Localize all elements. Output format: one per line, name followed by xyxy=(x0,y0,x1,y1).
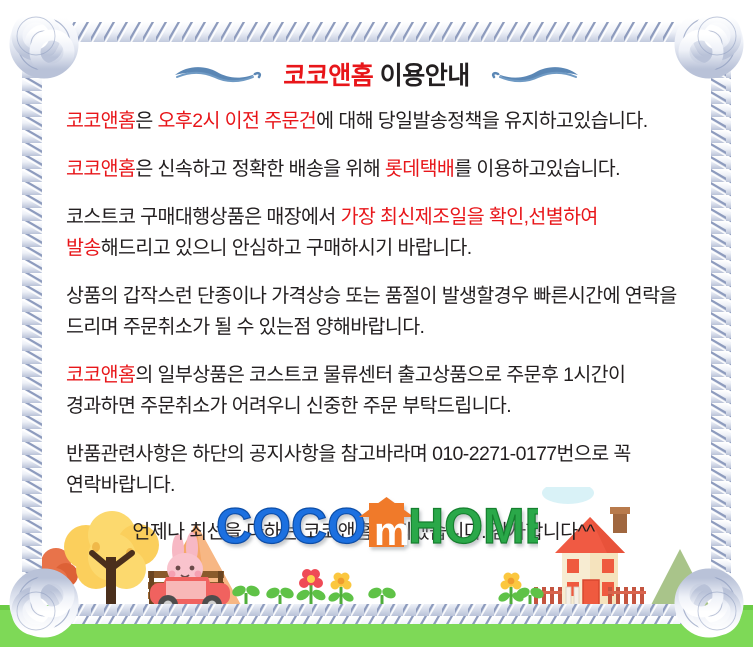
paragraph-courier: 코코앤홈은 신속하고 정확한 배송을 위해 롯데택배를 이용하고있습니다. xyxy=(66,154,691,185)
text-segment: 에 대해 당일발송정책을 유지하고있습니다. xyxy=(316,110,647,132)
paragraph-same-day-shipping: 코코앤홈은 오후2시 이전 주문건에 대해 당일발송정책을 유지하고있습니다. xyxy=(66,106,691,137)
grass-band xyxy=(0,605,753,647)
page-title-row: 코코앤홈 이용안내 xyxy=(0,56,753,92)
cocomhome-logo-icon: COCO m HOME xyxy=(216,497,538,557)
paragraph-returns-contact: 반품관련사항은 하단의 공지사항을 참고바라며 010-2271-0177번으로… xyxy=(66,439,691,501)
sprout-mid-b xyxy=(367,586,398,605)
sprout-mid-a xyxy=(265,586,296,605)
swirl-flourish-left-icon xyxy=(171,61,263,87)
brand-logo: COCO m HOME xyxy=(0,497,753,562)
text-segment: 은 xyxy=(135,110,157,132)
text-segment: 코스트코 구매대행상품은 매장에서 xyxy=(66,206,341,228)
text-segment: 코코앤홈 xyxy=(66,110,135,132)
logo-text-home: HOME xyxy=(408,498,538,554)
text-segment: 를 이용하고있습니다. xyxy=(454,158,620,180)
page-title-brand: 코코앤홈 xyxy=(283,62,373,90)
swirl-flourish-right-icon xyxy=(490,61,582,87)
text-segment: 상품의 갑작스런 단종이나 가격상승 또는 품절이 발생할경우 빠른시간에 연락… xyxy=(66,285,677,338)
rope-top xyxy=(50,22,705,42)
svg-text:m: m xyxy=(374,510,410,554)
paragraph-discontinued-notice: 상품의 갑작스런 단종이나 가격상승 또는 품절이 발생할경우 빠른시간에 연락… xyxy=(66,281,691,343)
notice-body: 코코앤홈은 오후2시 이전 주문건에 대해 당일발송정책을 유지하고있습니다. … xyxy=(66,106,691,547)
page-title-suffix: 이용안내 xyxy=(373,62,469,90)
text-segment: 은 신속하고 정확한 배송을 위해 xyxy=(135,158,385,180)
yellow-flower-mid xyxy=(327,573,355,606)
logo-house-icon: m xyxy=(359,497,414,554)
text-segment: 롯데택배 xyxy=(385,158,454,180)
text-segment: 코코앤홈 xyxy=(66,364,135,386)
paragraph-order-cancel-window: 코코앤홈의 일부상품은 코스트코 물류센터 출고상품으로 주문후 1시간이 경과… xyxy=(66,360,691,422)
text-segment: 오후2시 이전 주문건 xyxy=(158,110,317,132)
paragraph-costco-freshness: 코스트코 구매대행상품은 매장에서 가장 최신제조일을 확인,선별하여 발송해드… xyxy=(66,202,691,264)
text-segment: 코코앤홈 xyxy=(66,158,135,180)
logo-text-coco: COCO xyxy=(216,498,366,554)
text-segment: 의 일부상품은 코스트코 물류센터 출고상품으로 주문후 1시간이 경과하면 주… xyxy=(66,364,625,417)
red-flower xyxy=(295,569,328,605)
text-segment: 반품관련사항은 하단의 공지사항을 참고바라며 010-2271-0177번으로… xyxy=(66,443,631,496)
page-title: 코코앤홈 이용안내 xyxy=(283,56,469,92)
text-segment: 해드리고 있으니 안심하고 구매하시기 바랍니다. xyxy=(101,237,472,259)
notice-card: 코코앤홈 이용안내 코코앤홈은 오후2시 이전 주문건에 대해 당일발송정책을 … xyxy=(0,0,753,647)
